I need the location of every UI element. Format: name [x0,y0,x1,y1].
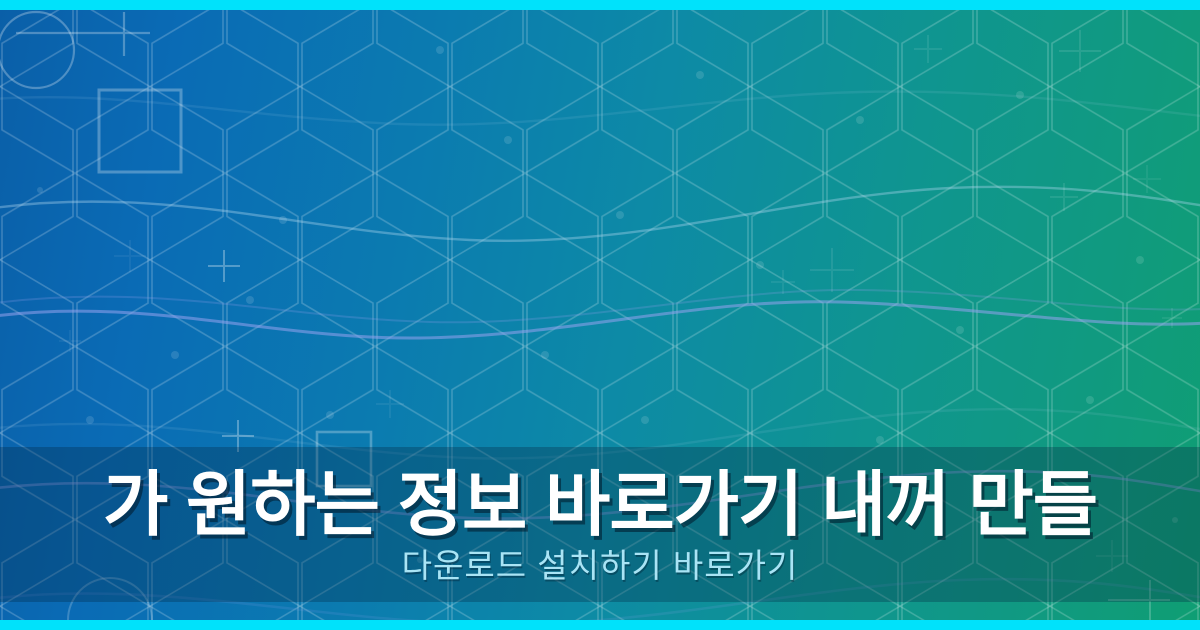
cyan-rail-top [0,0,1200,10]
banner-title: 가 원하는 정보 바로가기 내꺼 만들 [103,470,1097,541]
square-outlines [99,90,371,486]
cyan-rail-bottom [0,620,1200,630]
promo-banner: 가 원하는 정보 바로가기 내꺼 만들 다운로드 설치하기 바로가기 [0,0,1200,630]
banner-text-block: 가 원하는 정보 바로가기 내꺼 만들 다운로드 설치하기 바로가기 [0,447,1200,602]
banner-subtitle: 다운로드 설치하기 바로가기 [402,549,799,582]
circle-outline [0,12,150,88]
